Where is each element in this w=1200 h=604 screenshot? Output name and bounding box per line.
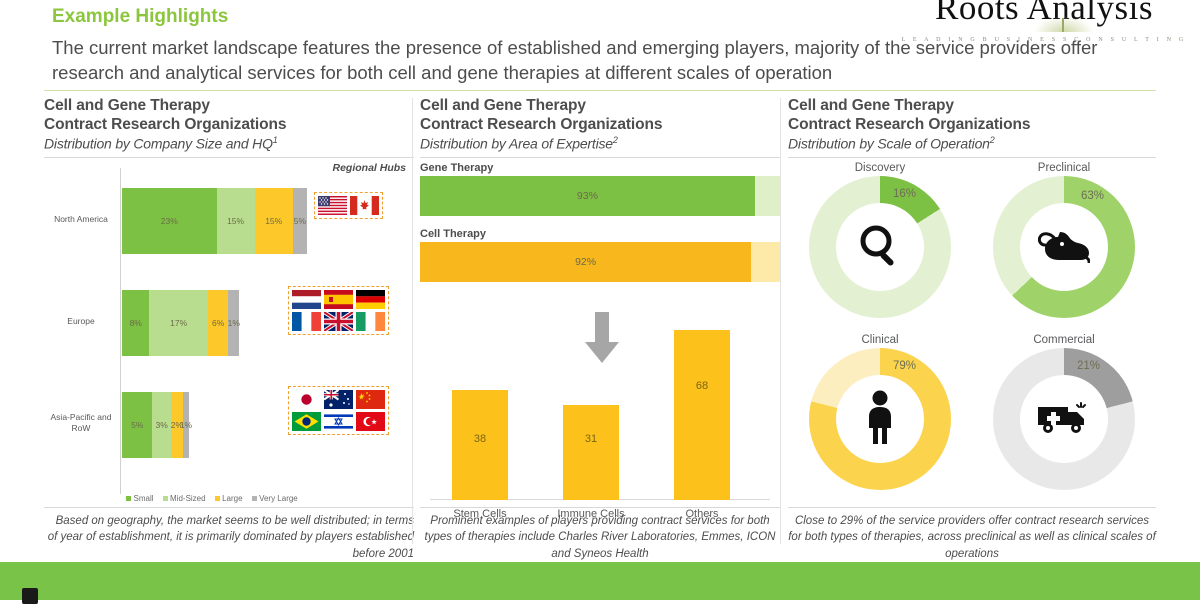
donut-hole-clinical [836, 375, 924, 463]
legend-swatch-small [126, 496, 131, 501]
panel2-subtitle: Distribution by Area of Expertise2 [420, 135, 780, 152]
bar-label-cell-therapy: Cell Therapy [420, 228, 780, 240]
page-title: The current market landscape features th… [52, 36, 1142, 85]
panel3-footer-divider [788, 507, 1156, 508]
panel1-subtitle-footnote: 1 [273, 135, 278, 145]
stack-north-america: 23% 15% 15% 5% [122, 188, 307, 254]
donut-grid: Discovery 16% Preclinical 63% [788, 162, 1156, 552]
donut-ring-preclinical: 63% [993, 176, 1135, 318]
donut-title-clinical: Clinical [788, 334, 972, 346]
segment-mid: 15% [217, 188, 255, 254]
donut-preclinical: Preclinical 63% [972, 162, 1156, 318]
flag-china [356, 390, 385, 409]
panel1-title-line2: Contract Research Organizations [44, 115, 414, 134]
flag-ireland [356, 312, 385, 331]
regional-hubs-label: Regional Hubs [332, 162, 406, 174]
flag-france [292, 312, 321, 331]
row-label-europe: Europe [46, 316, 116, 327]
segment-small: 8% [122, 290, 149, 356]
donut-value-clinical: 79% [893, 360, 916, 372]
footer-band [0, 562, 1200, 600]
bar-track-gene-therapy: 93% [420, 176, 780, 216]
bar-label-gene-therapy: Gene Therapy [420, 162, 780, 174]
legend-item-large: Large [215, 494, 243, 503]
donut-value-commercial: 21% [1077, 360, 1100, 372]
legend-label-very-large: Very Large [259, 494, 298, 503]
cell-therapy-column-chart: 38 Stem Cells 31 Immune Cells 68 Others [430, 336, 770, 516]
panel-scale-of-operation: Cell and Gene Therapy Contract Research … [788, 96, 1156, 566]
stack-europe: 8% 17% 6% 1% [122, 290, 239, 356]
chart-axis [120, 168, 121, 494]
donut-ring-clinical: 79% [809, 348, 951, 490]
panel3-divider [788, 157, 1156, 158]
stack-asia-pacific: 5% 3% 2% 1% [122, 392, 189, 458]
legend-swatch-large [215, 496, 220, 501]
segment-large: 15% [255, 188, 293, 254]
segment-mid: 3% [152, 392, 170, 458]
donut-hole-commercial [1020, 375, 1108, 463]
panel3-subtitle-text: Distribution by Scale of Operation [788, 136, 990, 152]
legend-label-mid-sized: Mid-Sized [170, 494, 206, 503]
donut-discovery: Discovery 16% [788, 162, 972, 318]
segment-large: 6% [208, 290, 229, 356]
panel2-footer-note: Prominent examples of players providing … [420, 513, 780, 562]
expertise-bars: Gene Therapy 93% Cell Therapy 92% [420, 162, 780, 282]
legend-item-very-large: Very Large [252, 494, 298, 503]
column-others: 68 [674, 330, 730, 500]
flagbox-europe [288, 286, 389, 335]
footer-marker [22, 588, 38, 604]
legend-label-large: Large [222, 494, 242, 503]
flag-israel [324, 412, 353, 431]
stacked-bar-chart: Regional Hubs North America 23% 15% 15% … [44, 164, 414, 504]
flag-germany [356, 290, 385, 309]
panel3-subtitle-footnote: 2 [990, 135, 995, 145]
flagbox-north-america [314, 192, 383, 219]
column-value-immune-cells: 31 [585, 433, 597, 445]
panel3-footer-note: Close to 29% of the service providers of… [788, 513, 1156, 562]
slide: Roots Analysis L E A D I N G B U S I N E… [0, 0, 1200, 600]
chart-legend: Small Mid-Sized Large Very Large [126, 494, 298, 503]
segment-mid: 17% [149, 290, 207, 356]
segment-small: 5% [122, 392, 152, 458]
flag-brazil [292, 412, 321, 431]
flag-australia [324, 390, 353, 409]
legend-swatch-mid-sized [163, 496, 168, 501]
segment-very-large: 5% [293, 188, 307, 254]
panel1-subtitle-text: Distribution by Company Size and HQ [44, 136, 273, 152]
panel1-footer-divider [44, 507, 414, 508]
donut-ring-discovery: 16% [809, 176, 951, 318]
flag-netherlands [292, 290, 321, 309]
header-divider [44, 90, 1156, 91]
panel2-footer-divider [420, 507, 780, 508]
flag-japan [292, 390, 321, 409]
panel3-title-line1: Cell and Gene Therapy [788, 96, 1156, 115]
panel1-subtitle: Distribution by Company Size and HQ1 [44, 135, 414, 152]
column-immune-cells: 31 [563, 405, 619, 500]
donut-ring-commercial: 21% [993, 348, 1135, 490]
column-stem-cells: 38 [452, 390, 508, 500]
donut-clinical: Clinical 79% [788, 334, 972, 490]
mouse-icon [1038, 227, 1090, 268]
donut-value-preclinical: 63% [1081, 190, 1104, 202]
flag-canada [350, 196, 379, 215]
flagbox-asia-pacific [288, 386, 389, 435]
flag-spain [324, 290, 353, 309]
panel-area-of-expertise: Cell and Gene Therapy Contract Research … [420, 96, 780, 566]
flag-united-kingdom [324, 312, 353, 331]
bar-fill-gene-therapy: 93% [420, 176, 755, 216]
ambulance-icon [1036, 399, 1092, 440]
magnifier-icon [855, 220, 905, 275]
legend-item-small: Small [126, 494, 154, 503]
panel2-title-line2: Contract Research Organizations [420, 115, 780, 134]
donut-commercial: Commercial 21% [972, 334, 1156, 490]
flag-united-states [318, 196, 347, 215]
donut-title-preclinical: Preclinical [972, 162, 1156, 174]
panel1-divider [44, 157, 414, 158]
panel2-divider [420, 157, 780, 158]
column-value-others: 68 [696, 380, 708, 392]
row-label-asia-pacific: Asia-Pacific and RoW [46, 412, 116, 433]
bar-fill-cell-therapy: 92% [420, 242, 751, 282]
segment-very-large: 1% [183, 392, 189, 458]
panel2-subtitle-text: Distribution by Area of Expertise [420, 136, 613, 152]
panel1-title-line1: Cell and Gene Therapy [44, 96, 414, 115]
panel1-footer-note: Based on geography, the market seems to … [44, 513, 414, 562]
donut-hole-discovery [836, 203, 924, 291]
person-icon [864, 390, 896, 449]
legend-label-small: Small [134, 494, 154, 503]
donut-value-discovery: 16% [893, 188, 916, 200]
panel3-title-line2: Contract Research Organizations [788, 115, 1156, 134]
donut-title-commercial: Commercial [972, 334, 1156, 346]
donut-title-discovery: Discovery [788, 162, 972, 174]
segment-very-large: 1% [228, 290, 239, 356]
panel2-subtitle-footnote: 2 [613, 135, 618, 145]
panel2-title-line1: Cell and Gene Therapy [420, 96, 780, 115]
column-value-stem-cells: 38 [474, 433, 486, 445]
tree-icon [1034, 16, 1094, 32]
segment-small: 23% [122, 188, 217, 254]
panel-company-size-hq: Cell and Gene Therapy Contract Research … [44, 96, 414, 566]
legend-swatch-very-large [252, 496, 257, 501]
flag-turkey [356, 412, 385, 431]
legend-item-mid-sized: Mid-Sized [163, 494, 206, 503]
page-eyebrow: Example Highlights [52, 6, 228, 28]
panel3-subtitle: Distribution by Scale of Operation2 [788, 135, 1156, 152]
donut-hole-preclinical [1020, 203, 1108, 291]
bar-track-cell-therapy: 92% [420, 242, 780, 282]
row-label-north-america: North America [46, 214, 116, 225]
